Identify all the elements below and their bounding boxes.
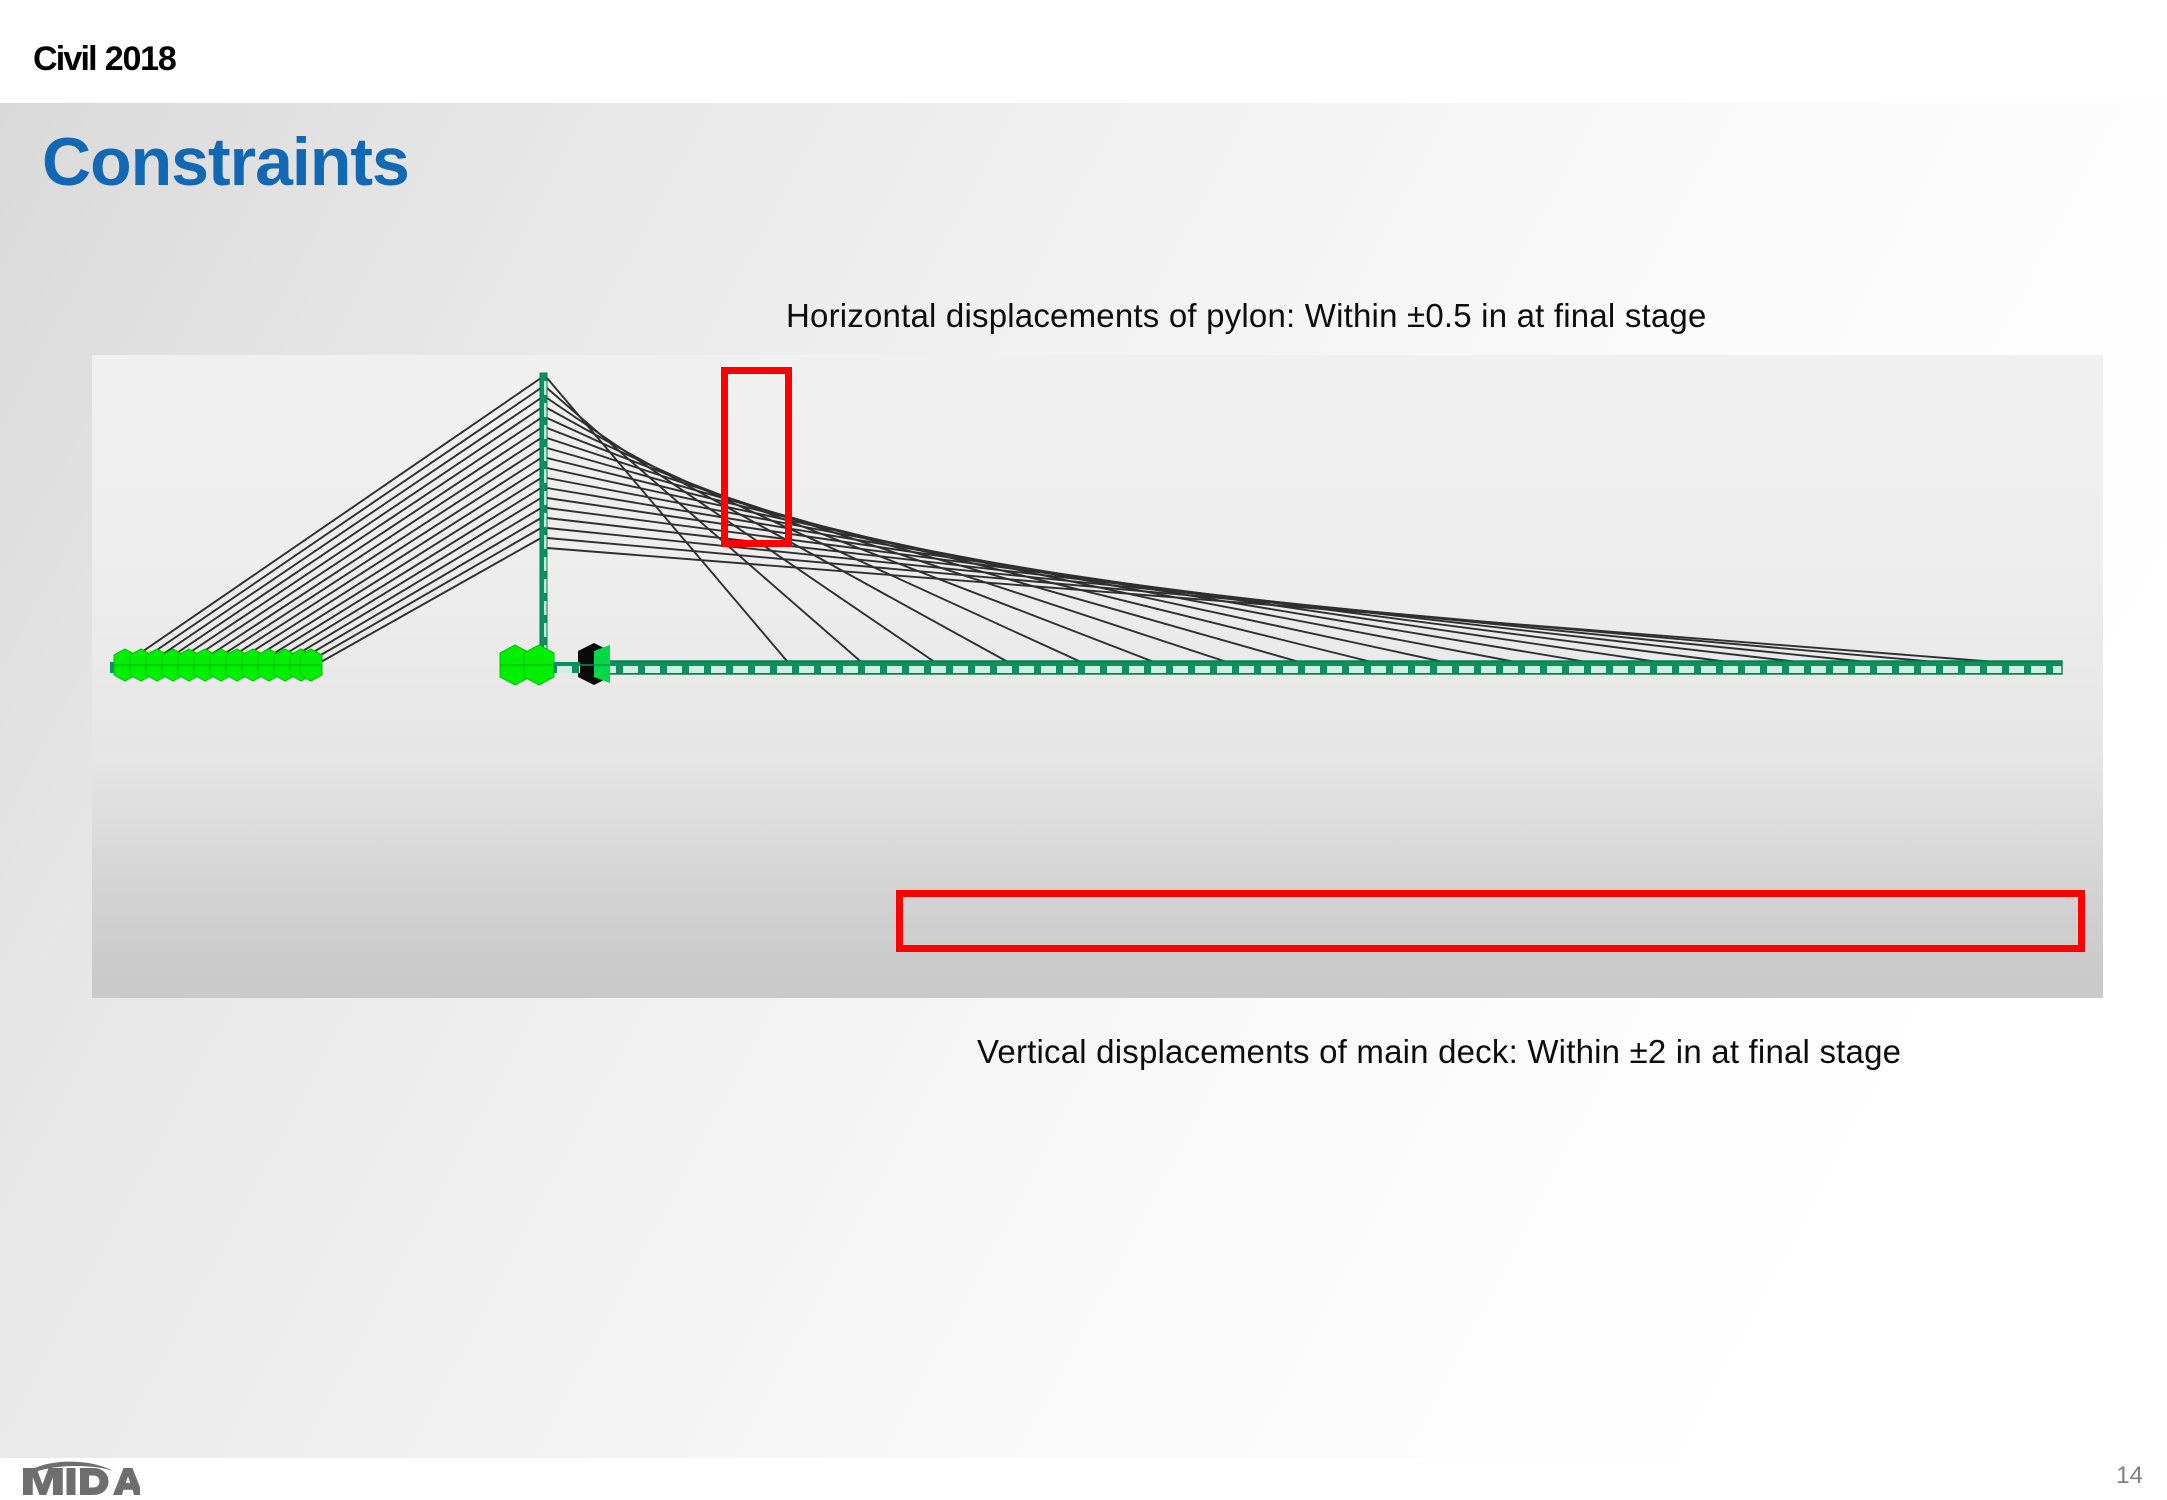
back-span-cables — [120, 378, 541, 667]
left-anchorage-supports — [114, 649, 322, 681]
midas-logo — [20, 1455, 140, 1499]
expansion-joint-node — [578, 643, 612, 685]
page-number: 14 — [2116, 1462, 2143, 1490]
brand-year: 2018 — [105, 40, 176, 78]
footer-band — [0, 1458, 2167, 1500]
page-title: Constraints — [42, 123, 409, 201]
pylon-top-highlight-box — [721, 367, 792, 547]
pylon-base-supports — [500, 645, 554, 685]
header-band: Civil 2018 — [0, 0, 2167, 103]
slide: Civil 2018 Constraints Horizontal displa… — [0, 0, 2167, 1500]
approach-girder — [554, 662, 580, 673]
pylon-mast — [540, 373, 547, 673]
main-deck-girder — [592, 661, 2062, 674]
brand-label: Civil 2018 — [33, 40, 176, 79]
main-deck-highlight-box — [896, 890, 2085, 952]
brand-name: Civil — [33, 40, 96, 78]
caption-deck-constraint: Vertical displacements of main deck: Wit… — [977, 1033, 1901, 1071]
caption-pylon-constraint: Horizontal displacements of pylon: Withi… — [786, 297, 1707, 335]
